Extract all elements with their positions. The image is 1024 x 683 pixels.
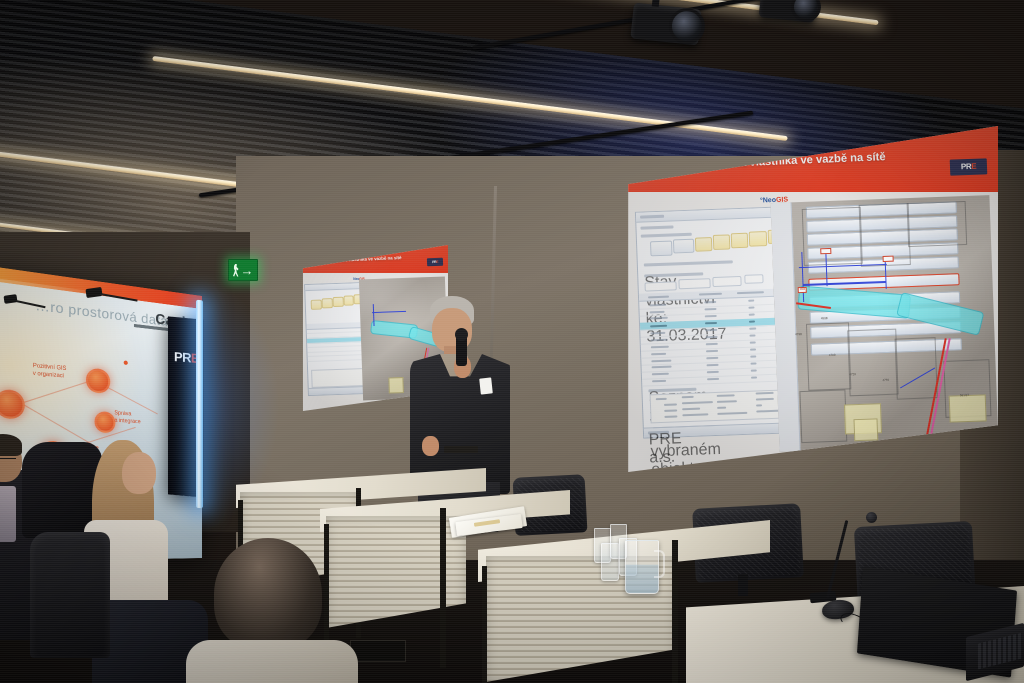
- change-history-panel-small: [311, 369, 367, 388]
- eyeglasses: [0, 458, 16, 459]
- history-cell: [717, 406, 726, 408]
- banner-dot: [124, 360, 128, 365]
- tabs-row[interactable]: [644, 260, 733, 267]
- filter-select-ku[interactable]: [744, 274, 764, 284]
- map-number-label: 591/27: [960, 392, 969, 396]
- map-parcel: [801, 207, 862, 266]
- filter-select-parcela[interactable]: [679, 279, 711, 290]
- toolbar-button-small[interactable]: [310, 300, 321, 310]
- table-foot: [350, 640, 406, 662]
- main-projection-screen: PRE JEN – Změna vlastníka ve vazbě na sí…: [626, 126, 998, 472]
- table-leg: [672, 540, 678, 683]
- spotlight-yoke: [651, 0, 659, 7]
- photo-scene: → …ro prostorová data Cacio Pozitivní GI…: [0, 0, 1024, 683]
- map-parcel-tag: 458: [798, 286, 807, 292]
- cell-value: [750, 362, 756, 364]
- cell-value: [748, 306, 754, 308]
- map-parcel: [799, 389, 847, 442]
- presenter-belt: [444, 446, 478, 453]
- slide-pre-accent-small: E: [436, 260, 438, 264]
- app-status-bar-small: [309, 386, 368, 395]
- toolbar-button-vymazat[interactable]: [673, 239, 695, 254]
- toolbar-button-small[interactable]: [333, 297, 344, 307]
- presenter-hand-left: [422, 436, 439, 456]
- cell-value: [750, 355, 756, 357]
- status-text: PRE a.s. / GIS: [648, 431, 669, 435]
- cell-value: [751, 376, 757, 378]
- map-number-label: 4798: [795, 331, 802, 335]
- map-number-label: 4729: [849, 372, 856, 376]
- gis-application-window[interactable]: Stav vlastnictví ke: 31.03.2017: [635, 206, 794, 438]
- toolbar-button-small[interactable]: [343, 296, 354, 306]
- map-parcel-tag: [820, 248, 831, 254]
- banner-node-3: [94, 411, 115, 433]
- toolbar-button-historie[interactable]: [748, 231, 767, 246]
- gooseneck-microphone-head: [866, 512, 877, 523]
- spotlight-lens: [667, 6, 707, 46]
- map-number-label: 4598: [821, 315, 828, 319]
- audience-member-shirt: [0, 486, 16, 542]
- foreground-audience-shoulders: [186, 640, 358, 683]
- microphone-head: [455, 328, 468, 341]
- cell-value: [750, 348, 756, 350]
- audience-member-head: [122, 452, 156, 494]
- exit-arrow-icon: →: [241, 264, 254, 277]
- table-row[interactable]: [307, 354, 366, 361]
- map-parcel-tag: [882, 256, 893, 262]
- map-parcel: [847, 328, 897, 396]
- audience-chair[interactable]: [30, 532, 110, 658]
- map-electric-line-small: [372, 305, 374, 327]
- map-parcel: [894, 336, 938, 399]
- slide-pre-accent: E: [971, 162, 976, 171]
- toolbar-button-hledat[interactable]: [650, 241, 672, 256]
- cell-value-selected: [749, 321, 755, 323]
- app-toolbar-small: [305, 283, 364, 292]
- cell-value: [748, 299, 754, 301]
- foreground-audience-head: [214, 538, 322, 650]
- lower-panel-caption: Seznam změn na vybraném objektu: [648, 388, 696, 393]
- filter-select-lv[interactable]: [713, 276, 742, 287]
- gis-map-view[interactable]: 458 4598 4709 4798 4729 4755 4751/13 591…: [770, 195, 998, 452]
- pitcher-handle: [654, 550, 665, 578]
- table-leg: [440, 508, 446, 668]
- cell-value: [748, 313, 754, 315]
- chair-post: [738, 574, 748, 596]
- cell-value: [749, 334, 755, 336]
- spotlight-lens: [789, 0, 822, 23]
- water-glass[interactable]: [601, 543, 619, 581]
- toolbar-button-tisk[interactable]: [730, 233, 747, 248]
- cell-value: [749, 327, 757, 329]
- slide-pre-logo-small: PRE: [427, 258, 444, 266]
- blue-led-strip: [196, 300, 203, 509]
- map-parcel: [906, 201, 967, 247]
- totem-pre-text: PR: [174, 349, 191, 365]
- map-building: [949, 394, 987, 422]
- map-number-label: 4709: [829, 352, 836, 356]
- filter-select-vlastnik[interactable]: [644, 281, 676, 292]
- presenter-name-badge: [479, 377, 493, 394]
- history-column-datum: [656, 398, 666, 400]
- ceiling-spotlight-2: [759, 0, 818, 23]
- slide-pre-text: PR: [960, 162, 971, 171]
- date-label: Stav vlastnictví ke: 31.03.2017: [644, 272, 704, 278]
- slide-main: PRE JEN – Změna vlastníka ve vazbě na sí…: [626, 126, 998, 472]
- ceiling-spotlight-1: [630, 3, 701, 46]
- map-building: [853, 418, 878, 441]
- cell-value: [749, 341, 755, 343]
- cell-value: [750, 369, 756, 371]
- emergency-exit-sign: →: [228, 259, 258, 281]
- toolbar-button-small[interactable]: [321, 299, 332, 309]
- table-leg: [482, 566, 487, 683]
- filter-section-sublabel: [641, 232, 692, 237]
- filter-section-label: [641, 225, 674, 229]
- running-man-icon: [233, 264, 240, 277]
- toolbar-button-export[interactable]: [713, 235, 730, 250]
- slide-pre-logo: PRE: [949, 158, 987, 175]
- banner-node-3-sublabel: a integrace: [114, 418, 140, 426]
- toolbar-button-detail[interactable]: [695, 237, 712, 252]
- map-number-label: 4755: [882, 378, 889, 382]
